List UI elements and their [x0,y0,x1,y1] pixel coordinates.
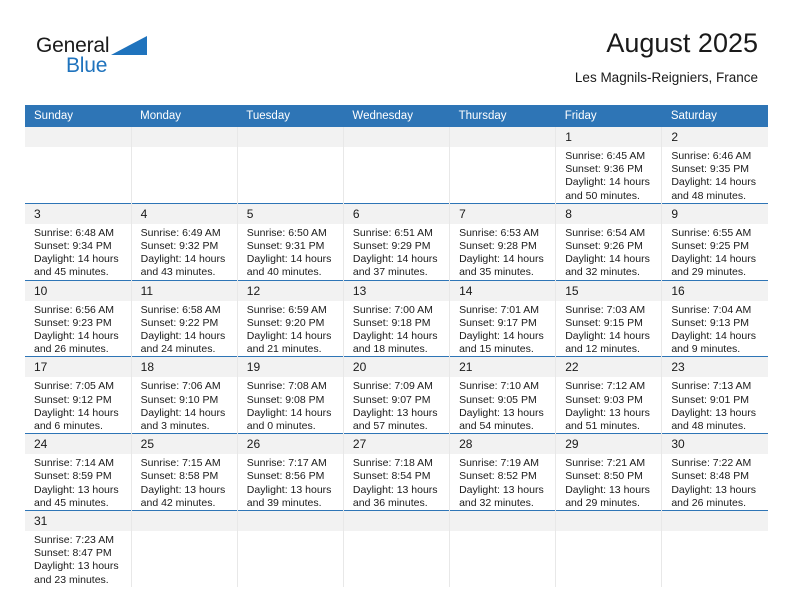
calendar-day-cell[interactable]: 17Sunrise: 7:05 AMSunset: 9:12 PMDayligh… [25,357,131,434]
sunset-text: Sunset: 8:56 PM [247,470,337,483]
day-number: 27 [344,434,449,454]
day-details: Sunrise: 7:21 AMSunset: 8:50 PMDaylight:… [556,454,661,510]
calendar-day-cell[interactable]: 9Sunrise: 6:55 AMSunset: 9:25 PMDaylight… [662,203,768,280]
calendar-day-cell[interactable]: 19Sunrise: 7:08 AMSunset: 9:08 PMDayligh… [237,357,343,434]
day-number: 3 [25,204,131,224]
day-number [344,511,449,531]
sunset-text: Sunset: 8:48 PM [671,470,762,483]
day-details: Sunrise: 7:03 AMSunset: 9:15 PMDaylight:… [556,301,661,357]
day-number: 23 [662,357,768,377]
day-details: Sunrise: 7:08 AMSunset: 9:08 PMDaylight:… [238,377,343,433]
day-details: Sunrise: 7:15 AMSunset: 8:58 PMDaylight:… [132,454,237,510]
sunrise-text: Sunrise: 7:12 AM [565,380,655,393]
day-details: Sunrise: 6:56 AMSunset: 9:23 PMDaylight:… [25,301,131,357]
sunset-text: Sunset: 9:29 PM [353,240,443,253]
day-details: Sunrise: 7:18 AMSunset: 8:54 PMDaylight:… [344,454,449,510]
day-number: 14 [450,281,555,301]
sunrise-text: Sunrise: 6:56 AM [34,304,125,317]
calendar-day-cell[interactable]: 26Sunrise: 7:17 AMSunset: 8:56 PMDayligh… [237,434,343,511]
sunrise-text: Sunrise: 7:04 AM [671,304,762,317]
calendar-cell-empty [450,511,556,587]
day-details: Sunrise: 6:59 AMSunset: 9:20 PMDaylight:… [238,301,343,357]
weekday-header-row: Sunday Monday Tuesday Wednesday Thursday… [25,105,768,127]
day-number [25,127,131,147]
day-details: Sunrise: 7:04 AMSunset: 9:13 PMDaylight:… [662,301,768,357]
daylight-text: Daylight: 14 hours and 24 minutes. [141,330,231,356]
daylight-text: Daylight: 13 hours and 48 minutes. [671,407,762,433]
general-blue-logo[interactable]: General Blue [36,34,166,86]
sunrise-text: Sunrise: 6:51 AM [353,227,443,240]
calendar-week-row: 17Sunrise: 7:05 AMSunset: 9:12 PMDayligh… [25,357,768,434]
calendar-day-cell[interactable]: 25Sunrise: 7:15 AMSunset: 8:58 PMDayligh… [131,434,237,511]
sunrise-text: Sunrise: 6:49 AM [141,227,231,240]
brand-triangle-icon [111,36,147,55]
day-details: Sunrise: 7:19 AMSunset: 8:52 PMDaylight:… [450,454,555,510]
calendar-day-cell[interactable]: 6Sunrise: 6:51 AMSunset: 9:29 PMDaylight… [343,203,449,280]
day-number: 15 [556,281,661,301]
day-number: 29 [556,434,661,454]
calendar-cell-empty [25,127,131,203]
calendar-day-cell[interactable]: 30Sunrise: 7:22 AMSunset: 8:48 PMDayligh… [662,434,768,511]
sunrise-text: Sunrise: 6:58 AM [141,304,231,317]
sunrise-text: Sunrise: 7:03 AM [565,304,655,317]
calendar-day-cell[interactable]: 28Sunrise: 7:19 AMSunset: 8:52 PMDayligh… [450,434,556,511]
weekday-header-tuesday: Tuesday [237,105,343,127]
sunset-text: Sunset: 9:17 PM [459,317,549,330]
page-title: August 2025 [575,26,758,60]
sunset-text: Sunset: 8:58 PM [141,470,231,483]
day-number: 4 [132,204,237,224]
calendar-cell-empty [556,511,662,587]
day-number [238,511,343,531]
day-details: Sunrise: 6:48 AMSunset: 9:34 PMDaylight:… [25,224,131,280]
calendar-day-cell[interactable]: 18Sunrise: 7:06 AMSunset: 9:10 PMDayligh… [131,357,237,434]
day-number: 20 [344,357,449,377]
sunset-text: Sunset: 9:22 PM [141,317,231,330]
day-number: 31 [25,511,131,531]
title-block: August 2025 Les Magnils-Reigniers, Franc… [575,26,758,86]
calendar-day-cell[interactable]: 2Sunrise: 6:46 AMSunset: 9:35 PMDaylight… [662,127,768,203]
sunset-text: Sunset: 9:32 PM [141,240,231,253]
page-header: General Blue August 2025 Les Magnils-Rei… [24,26,768,96]
calendar-cell-empty [131,127,237,203]
daylight-text: Daylight: 14 hours and 35 minutes. [459,253,549,279]
daylight-text: Daylight: 13 hours and 32 minutes. [459,484,549,510]
sunrise-text: Sunrise: 6:48 AM [34,227,125,240]
sunset-text: Sunset: 9:25 PM [671,240,762,253]
daylight-text: Daylight: 14 hours and 43 minutes. [141,253,231,279]
calendar-day-cell[interactable]: 20Sunrise: 7:09 AMSunset: 9:07 PMDayligh… [343,357,449,434]
sunrise-sunset-calendar-table: Sunday Monday Tuesday Wednesday Thursday… [25,105,768,587]
weekday-header-friday: Friday [556,105,662,127]
day-number: 22 [556,357,661,377]
daylight-text: Daylight: 14 hours and 12 minutes. [565,330,655,356]
day-number: 1 [556,127,661,147]
sunset-text: Sunset: 9:18 PM [353,317,443,330]
daylight-text: Daylight: 13 hours and 45 minutes. [34,484,125,510]
day-details: Sunrise: 7:00 AMSunset: 9:18 PMDaylight:… [344,301,449,357]
sunrise-text: Sunrise: 7:22 AM [671,457,762,470]
day-number: 7 [450,204,555,224]
daylight-text: Daylight: 14 hours and 29 minutes. [671,253,762,279]
calendar-day-cell[interactable]: 3Sunrise: 6:48 AMSunset: 9:34 PMDaylight… [25,203,131,280]
day-number: 17 [25,357,131,377]
sunset-text: Sunset: 9:08 PM [247,394,337,407]
day-details: Sunrise: 6:51 AMSunset: 9:29 PMDaylight:… [344,224,449,280]
daylight-text: Daylight: 14 hours and 15 minutes. [459,330,549,356]
daylight-text: Daylight: 14 hours and 3 minutes. [141,407,231,433]
calendar-cell-empty [343,511,449,587]
sunset-text: Sunset: 9:20 PM [247,317,337,330]
sunrise-text: Sunrise: 6:54 AM [565,227,655,240]
calendar-day-cell[interactable]: 4Sunrise: 6:49 AMSunset: 9:32 PMDaylight… [131,203,237,280]
daylight-text: Daylight: 14 hours and 40 minutes. [247,253,337,279]
daylight-text: Daylight: 13 hours and 26 minutes. [671,484,762,510]
day-number: 21 [450,357,555,377]
sunrise-text: Sunrise: 7:08 AM [247,380,337,393]
day-number: 10 [25,281,131,301]
calendar-day-cell[interactable]: 27Sunrise: 7:18 AMSunset: 8:54 PMDayligh… [343,434,449,511]
calendar-day-cell[interactable]: 5Sunrise: 6:50 AMSunset: 9:31 PMDaylight… [237,203,343,280]
day-number: 16 [662,281,768,301]
calendar-day-cell[interactable]: 11Sunrise: 6:58 AMSunset: 9:22 PMDayligh… [131,280,237,357]
sunrise-text: Sunrise: 7:06 AM [141,380,231,393]
sunset-text: Sunset: 9:12 PM [34,394,125,407]
day-number [556,511,661,531]
day-number: 24 [25,434,131,454]
day-details: Sunrise: 7:22 AMSunset: 8:48 PMDaylight:… [662,454,768,510]
daylight-text: Daylight: 14 hours and 32 minutes. [565,253,655,279]
sunset-text: Sunset: 9:03 PM [565,394,655,407]
daylight-text: Daylight: 14 hours and 9 minutes. [671,330,762,356]
calendar-day-cell[interactable]: 16Sunrise: 7:04 AMSunset: 9:13 PMDayligh… [662,280,768,357]
calendar-cell-empty [131,511,237,587]
daylight-text: Daylight: 13 hours and 39 minutes. [247,484,337,510]
sunset-text: Sunset: 9:05 PM [459,394,549,407]
sunset-text: Sunset: 9:34 PM [34,240,125,253]
weekday-header-wednesday: Wednesday [343,105,449,127]
calendar-cell-empty [343,127,449,203]
daylight-text: Daylight: 14 hours and 48 minutes. [671,176,762,202]
daylight-text: Daylight: 14 hours and 26 minutes. [34,330,125,356]
day-number: 13 [344,281,449,301]
weekday-header-thursday: Thursday [450,105,556,127]
day-number: 28 [450,434,555,454]
day-number [132,127,237,147]
day-details: Sunrise: 7:14 AMSunset: 8:59 PMDaylight:… [25,454,131,510]
calendar-day-cell[interactable]: 14Sunrise: 7:01 AMSunset: 9:17 PMDayligh… [450,280,556,357]
calendar-day-cell[interactable]: 15Sunrise: 7:03 AMSunset: 9:15 PMDayligh… [556,280,662,357]
sunrise-text: Sunrise: 7:00 AM [353,304,443,317]
sunrise-text: Sunrise: 7:21 AM [565,457,655,470]
sunrise-text: Sunrise: 7:17 AM [247,457,337,470]
day-number: 5 [238,204,343,224]
sunrise-text: Sunrise: 6:50 AM [247,227,337,240]
calendar-day-cell[interactable]: 10Sunrise: 6:56 AMSunset: 9:23 PMDayligh… [25,280,131,357]
sunset-text: Sunset: 9:26 PM [565,240,655,253]
sunset-text: Sunset: 9:35 PM [671,163,762,176]
logo-text-blue: Blue [66,54,107,78]
daylight-text: Daylight: 14 hours and 37 minutes. [353,253,443,279]
calendar-day-cell[interactable]: 12Sunrise: 6:59 AMSunset: 9:20 PMDayligh… [237,280,343,357]
calendar-day-cell[interactable]: 24Sunrise: 7:14 AMSunset: 8:59 PMDayligh… [25,434,131,511]
calendar-day-cell[interactable]: 22Sunrise: 7:12 AMSunset: 9:03 PMDayligh… [556,357,662,434]
sunrise-text: Sunrise: 7:23 AM [34,534,125,547]
calendar-week-row: 10Sunrise: 6:56 AMSunset: 9:23 PMDayligh… [25,280,768,357]
day-number [450,511,555,531]
day-details: Sunrise: 7:06 AMSunset: 9:10 PMDaylight:… [132,377,237,433]
daylight-text: Daylight: 14 hours and 6 minutes. [34,407,125,433]
sunrise-text: Sunrise: 7:05 AM [34,380,125,393]
sunrise-text: Sunrise: 6:46 AM [671,150,762,163]
sunset-text: Sunset: 9:07 PM [353,394,443,407]
sunrise-text: Sunrise: 7:15 AM [141,457,231,470]
daylight-text: Daylight: 14 hours and 0 minutes. [247,407,337,433]
sunrise-text: Sunrise: 6:45 AM [565,150,655,163]
daylight-text: Daylight: 14 hours and 21 minutes. [247,330,337,356]
day-number: 18 [132,357,237,377]
day-details: Sunrise: 6:49 AMSunset: 9:32 PMDaylight:… [132,224,237,280]
calendar-day-cell[interactable]: 21Sunrise: 7:10 AMSunset: 9:05 PMDayligh… [450,357,556,434]
calendar-week-row: 1Sunrise: 6:45 AMSunset: 9:36 PMDaylight… [25,127,768,203]
daylight-text: Daylight: 13 hours and 51 minutes. [565,407,655,433]
day-number [662,511,768,531]
day-details: Sunrise: 7:10 AMSunset: 9:05 PMDaylight:… [450,377,555,433]
day-details: Sunrise: 6:58 AMSunset: 9:22 PMDaylight:… [132,301,237,357]
day-details: Sunrise: 7:17 AMSunset: 8:56 PMDaylight:… [238,454,343,510]
sunrise-text: Sunrise: 7:01 AM [459,304,549,317]
sunset-text: Sunset: 8:59 PM [34,470,125,483]
sunset-text: Sunset: 9:23 PM [34,317,125,330]
daylight-text: Daylight: 14 hours and 50 minutes. [565,176,655,202]
day-number: 12 [238,281,343,301]
weekday-header-monday: Monday [131,105,237,127]
sunset-text: Sunset: 8:52 PM [459,470,549,483]
day-details: Sunrise: 7:09 AMSunset: 9:07 PMDaylight:… [344,377,449,433]
day-number: 2 [662,127,768,147]
calendar-day-cell[interactable]: 23Sunrise: 7:13 AMSunset: 9:01 PMDayligh… [662,357,768,434]
calendar-cell-empty [237,511,343,587]
calendar-week-row: 24Sunrise: 7:14 AMSunset: 8:59 PMDayligh… [25,434,768,511]
sunset-text: Sunset: 8:54 PM [353,470,443,483]
weekday-header-sunday: Sunday [25,105,131,127]
sunset-text: Sunset: 9:28 PM [459,240,549,253]
day-number [450,127,555,147]
location-subtitle: Les Magnils-Reigniers, France [575,69,758,86]
daylight-text: Daylight: 13 hours and 29 minutes. [565,484,655,510]
day-number: 19 [238,357,343,377]
day-details: Sunrise: 7:05 AMSunset: 9:12 PMDaylight:… [25,377,131,433]
sunset-text: Sunset: 9:36 PM [565,163,655,176]
calendar-day-cell[interactable]: 31Sunrise: 7:23 AMSunset: 8:47 PMDayligh… [25,511,131,587]
calendar-day-cell[interactable]: 8Sunrise: 6:54 AMSunset: 9:26 PMDaylight… [556,203,662,280]
day-number: 6 [344,204,449,224]
daylight-text: Daylight: 13 hours and 23 minutes. [34,560,125,586]
day-details: Sunrise: 6:54 AMSunset: 9:26 PMDaylight:… [556,224,661,280]
calendar-cell-empty [237,127,343,203]
day-details: Sunrise: 7:23 AMSunset: 8:47 PMDaylight:… [25,531,131,587]
day-number: 8 [556,204,661,224]
day-details: Sunrise: 6:55 AMSunset: 9:25 PMDaylight:… [662,224,768,280]
day-number: 30 [662,434,768,454]
sunset-text: Sunset: 9:01 PM [671,394,762,407]
sunrise-text: Sunrise: 6:53 AM [459,227,549,240]
day-details: Sunrise: 7:01 AMSunset: 9:17 PMDaylight:… [450,301,555,357]
sunrise-text: Sunrise: 7:10 AM [459,380,549,393]
day-details: Sunrise: 7:13 AMSunset: 9:01 PMDaylight:… [662,377,768,433]
day-number [132,511,237,531]
sunrise-text: Sunrise: 6:55 AM [671,227,762,240]
calendar-day-cell[interactable]: 7Sunrise: 6:53 AMSunset: 9:28 PMDaylight… [450,203,556,280]
day-details: Sunrise: 6:50 AMSunset: 9:31 PMDaylight:… [238,224,343,280]
daylight-text: Daylight: 13 hours and 36 minutes. [353,484,443,510]
sunrise-text: Sunrise: 7:14 AM [34,457,125,470]
sunset-text: Sunset: 8:47 PM [34,547,125,560]
sunset-text: Sunset: 9:13 PM [671,317,762,330]
day-number: 26 [238,434,343,454]
weekday-header-saturday: Saturday [662,105,768,127]
calendar-week-row: 31Sunrise: 7:23 AMSunset: 8:47 PMDayligh… [25,511,768,587]
daylight-text: Daylight: 14 hours and 18 minutes. [353,330,443,356]
day-number: 25 [132,434,237,454]
day-number: 11 [132,281,237,301]
sunrise-text: Sunrise: 7:19 AM [459,457,549,470]
daylight-text: Daylight: 14 hours and 45 minutes. [34,253,125,279]
calendar-week-row: 3Sunrise: 6:48 AMSunset: 9:34 PMDaylight… [25,203,768,280]
sunrise-text: Sunrise: 7:13 AM [671,380,762,393]
sunrise-text: Sunrise: 7:18 AM [353,457,443,470]
sunset-text: Sunset: 9:10 PM [141,394,231,407]
day-details: Sunrise: 6:53 AMSunset: 9:28 PMDaylight:… [450,224,555,280]
calendar-cell-empty [450,127,556,203]
day-details: Sunrise: 6:45 AMSunset: 9:36 PMDaylight:… [556,147,661,203]
daylight-text: Daylight: 13 hours and 57 minutes. [353,407,443,433]
day-details: Sunrise: 7:12 AMSunset: 9:03 PMDaylight:… [556,377,661,433]
calendar-page: General Blue August 2025 Les Magnils-Rei… [0,0,792,612]
daylight-text: Daylight: 13 hours and 42 minutes. [141,484,231,510]
calendar-cell-empty [662,511,768,587]
sunset-text: Sunset: 9:15 PM [565,317,655,330]
sunrise-text: Sunrise: 7:09 AM [353,380,443,393]
day-number: 9 [662,204,768,224]
calendar-day-cell[interactable]: 29Sunrise: 7:21 AMSunset: 8:50 PMDayligh… [556,434,662,511]
day-number [344,127,449,147]
day-number [238,127,343,147]
sunset-text: Sunset: 9:31 PM [247,240,337,253]
calendar-day-cell[interactable]: 1Sunrise: 6:45 AMSunset: 9:36 PMDaylight… [556,127,662,203]
daylight-text: Daylight: 13 hours and 54 minutes. [459,407,549,433]
calendar-day-cell[interactable]: 13Sunrise: 7:00 AMSunset: 9:18 PMDayligh… [343,280,449,357]
day-details: Sunrise: 6:46 AMSunset: 9:35 PMDaylight:… [662,147,768,203]
sunset-text: Sunset: 8:50 PM [565,470,655,483]
sunrise-text: Sunrise: 6:59 AM [247,304,337,317]
